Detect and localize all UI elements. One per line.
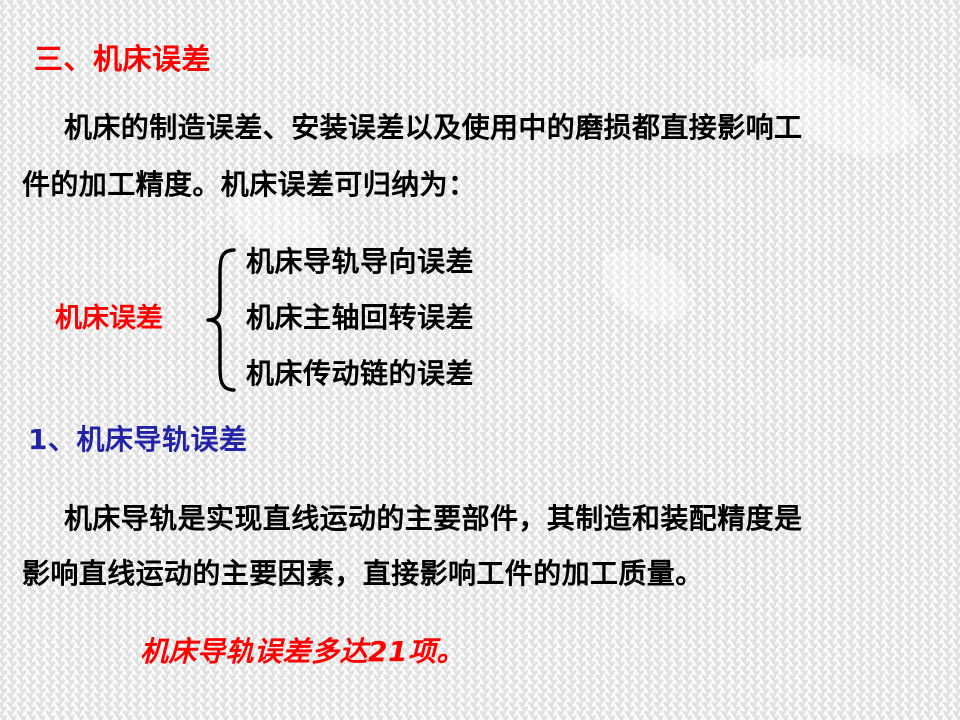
paragraph-1-line-2: 件的加工精度。机床误差可归纳为：: [22, 163, 476, 203]
curly-brace-icon: [200, 246, 244, 394]
paragraph-2-line-2: 影响直线运动的主要因素，直接影响工件的加工质量。: [22, 552, 704, 592]
sub-section-title: 1、机床导轨误差: [28, 418, 247, 458]
branch-item-1: 机床主轴回转误差: [246, 296, 474, 336]
paragraph-2-line-1: 机床导轨是实现直线运动的主要部件，其制造和装配精度是: [64, 497, 802, 537]
branch-item-0: 机床导轨导向误差: [246, 240, 474, 280]
slide-canvas: 三、机床误差 机床的制造误差、安装误差以及使用中的磨损都直接影响工 件的加工精度…: [0, 0, 960, 720]
highlight-statement: 机床导轨误差多达21项。: [140, 630, 465, 670]
slide-content: 三、机床误差 机床的制造误差、安装误差以及使用中的磨损都直接影响工 件的加工精度…: [0, 0, 960, 720]
branch-item-2: 机床传动链的误差: [246, 352, 474, 392]
paragraph-1-line-1: 机床的制造误差、安装误差以及使用中的磨损都直接影响工: [64, 106, 802, 146]
group-label-machine-tool-error: 机床误差: [55, 296, 163, 335]
section-title: 三、机床误差: [34, 36, 211, 78]
